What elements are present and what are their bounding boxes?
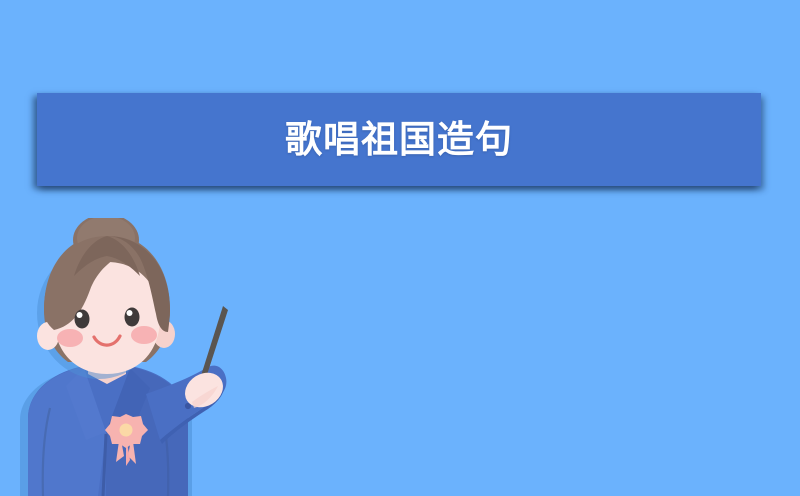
- ribbon-center: [120, 424, 133, 437]
- teacher-illustration-svg: [10, 218, 245, 496]
- teacher-illustration: [10, 218, 245, 496]
- cheek-left: [57, 329, 83, 347]
- page-title: 歌唱祖国造句: [285, 121, 513, 158]
- eye-highlight-right: [127, 310, 133, 316]
- head-group: [37, 218, 175, 379]
- page-root: 歌唱祖国造句: [0, 0, 800, 496]
- cheek-right: [131, 326, 157, 344]
- title-banner: 歌唱祖国造句: [37, 93, 761, 186]
- eye-right: [125, 308, 140, 327]
- eye-highlight-left: [77, 312, 83, 318]
- eye-left: [75, 310, 90, 329]
